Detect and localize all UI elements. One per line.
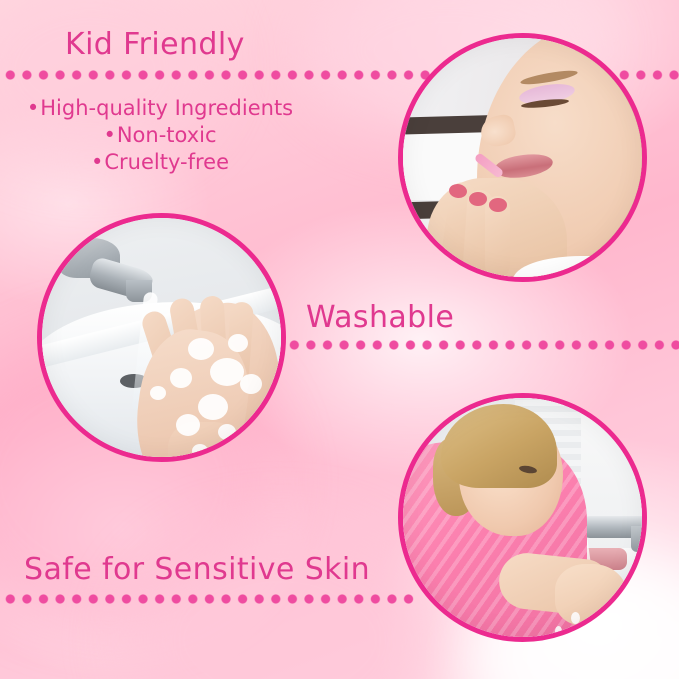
photo-hands-washing-with-soap [37,213,286,462]
feature-list: High-quality Ingredients Non-toxic Cruel… [0,95,320,176]
list-item: High-quality Ingredients [0,95,320,122]
product-feature-infographic: Kid Friendly High-quality Ingredients No… [0,0,679,679]
heading-safe-for-sensitive-skin: Safe for Sensitive Skin [24,552,370,587]
lip-gloss-scene [403,38,642,277]
list-item: Cruelty-free [0,149,320,176]
photo-child-applying-lip-gloss [398,33,647,282]
photo-girl-rinsing-hands-at-sink [398,393,647,642]
list-item: Non-toxic [0,122,320,149]
handwashing-scene [42,218,281,457]
heading-kid-friendly: Kid Friendly [65,27,245,62]
dotted-divider-bottom [0,594,418,604]
heading-washable: Washable [306,300,454,335]
girl-at-sink-scene [403,398,642,637]
dotted-divider-middle [284,340,679,350]
